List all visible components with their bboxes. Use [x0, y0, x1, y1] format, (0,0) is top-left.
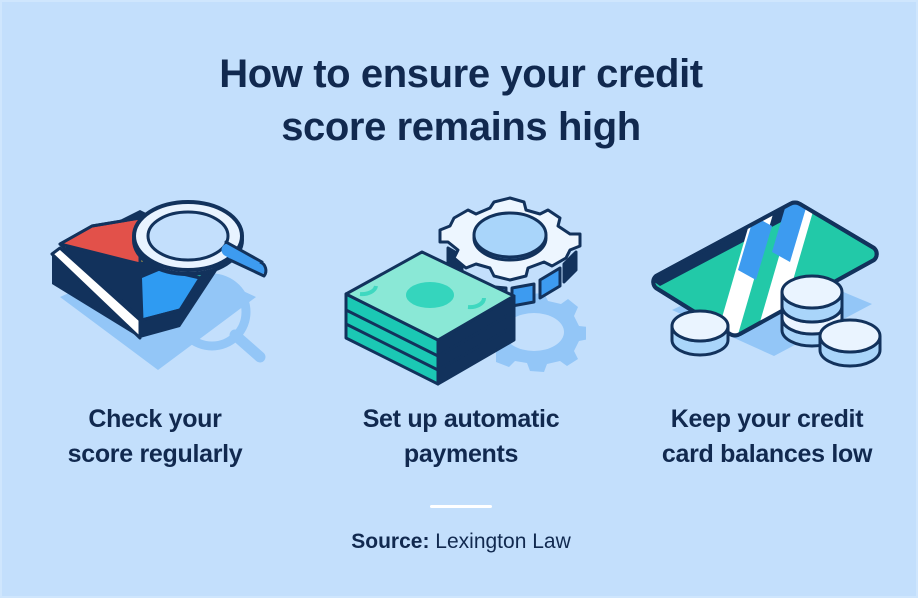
- tip-column-auto-payments: Set up automatic payments: [308, 192, 614, 472]
- tip-column-check-score: Check your score regularly: [2, 192, 308, 472]
- cash-stack-gear-icon: [336, 192, 586, 387]
- source-line: Source: Lexington Law: [2, 528, 918, 556]
- source-value: Lexington Law: [435, 530, 570, 553]
- title-line-2: score remains high: [2, 101, 918, 154]
- tip-caption-check-score: Check your score regularly: [68, 402, 243, 472]
- caption-line-1: Set up automatic: [363, 402, 560, 437]
- caption-line-2: card balances low: [662, 437, 872, 472]
- caption-line-2: payments: [363, 437, 560, 472]
- caption-line-1: Keep your credit: [662, 402, 872, 437]
- tips-columns: Check your score regularly: [2, 192, 918, 472]
- title-line-1: How to ensure your credit: [2, 48, 918, 101]
- credit-card-coins-icon: [642, 192, 892, 387]
- page-title: How to ensure your credit score remains …: [2, 48, 918, 154]
- pie-chart-magnifier-icon: [30, 192, 280, 387]
- infographic-poster: How to ensure your credit score remains …: [0, 0, 918, 598]
- tip-column-card-balances: Keep your credit card balances low: [614, 192, 918, 472]
- tip-caption-card-balances: Keep your credit card balances low: [662, 402, 872, 472]
- caption-line-2: score regularly: [68, 437, 243, 472]
- source-divider: [430, 505, 492, 508]
- tip-caption-auto-payments: Set up automatic payments: [363, 402, 560, 472]
- source-label: Source:: [351, 530, 429, 553]
- caption-line-1: Check your: [68, 402, 243, 437]
